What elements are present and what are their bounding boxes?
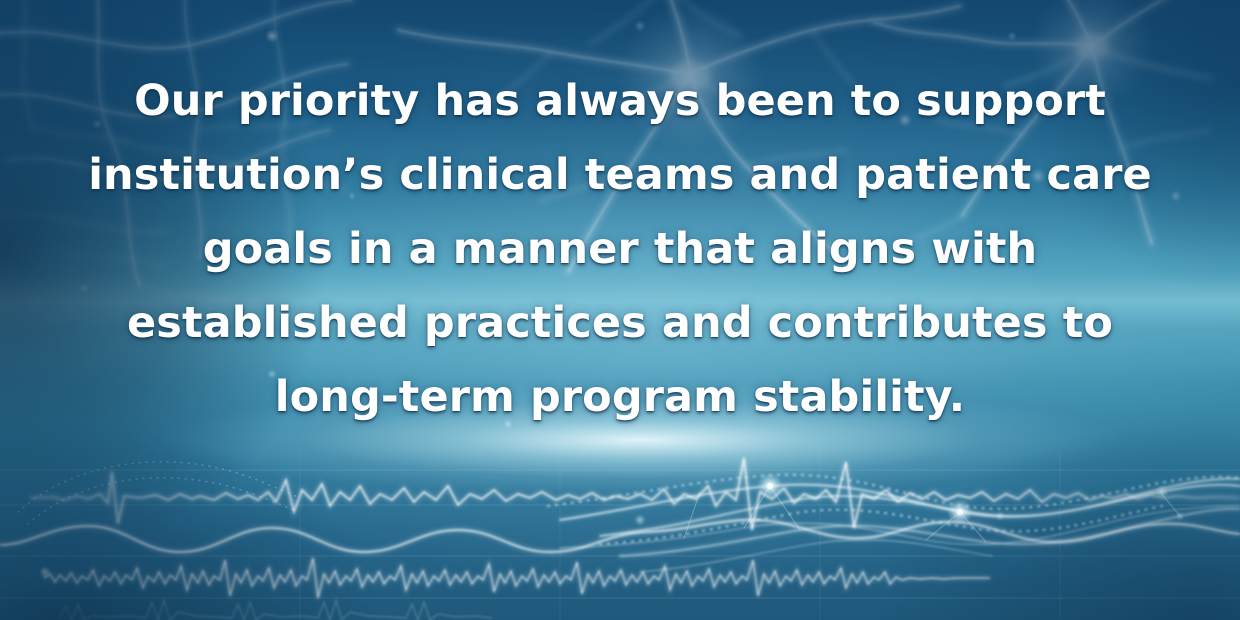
vignette-overlay <box>0 0 1240 620</box>
slide-canvas: Our priority has always been to support … <box>0 0 1240 620</box>
